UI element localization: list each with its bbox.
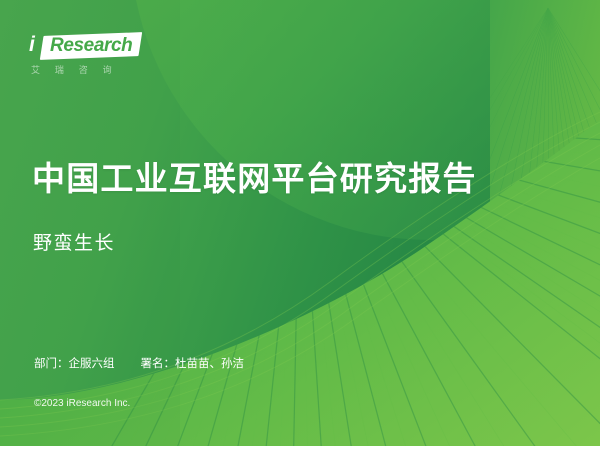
author-label: 署名： xyxy=(141,356,176,370)
report-title: 中国工业互联网平台研究报告 xyxy=(32,152,477,200)
logo-wordmark: Research xyxy=(50,35,132,56)
logo-subtext: 艾 瑞 咨 询 xyxy=(31,63,118,76)
iresearch-logo: Research i 艾 瑞 咨 询 xyxy=(28,33,148,83)
report-meta: 部门：企服六组署名：杜苗苗、孙洁 xyxy=(34,355,244,371)
report-subtitle: 野蛮生长 xyxy=(33,228,115,255)
department-value: 企服六组 xyxy=(69,356,115,370)
department-label: 部门： xyxy=(34,356,69,370)
report-cover-slide: Research i 艾 瑞 咨 询 中国工业互联网平台研究报告 野蛮生长 部门… xyxy=(0,0,600,446)
logo-prefix-i: i xyxy=(29,34,35,56)
author-value: 杜苗苗、孙洁 xyxy=(175,356,244,370)
copyright-notice: ©2023 iResearch Inc. xyxy=(34,398,130,409)
logo-mark: Research i xyxy=(28,33,146,63)
